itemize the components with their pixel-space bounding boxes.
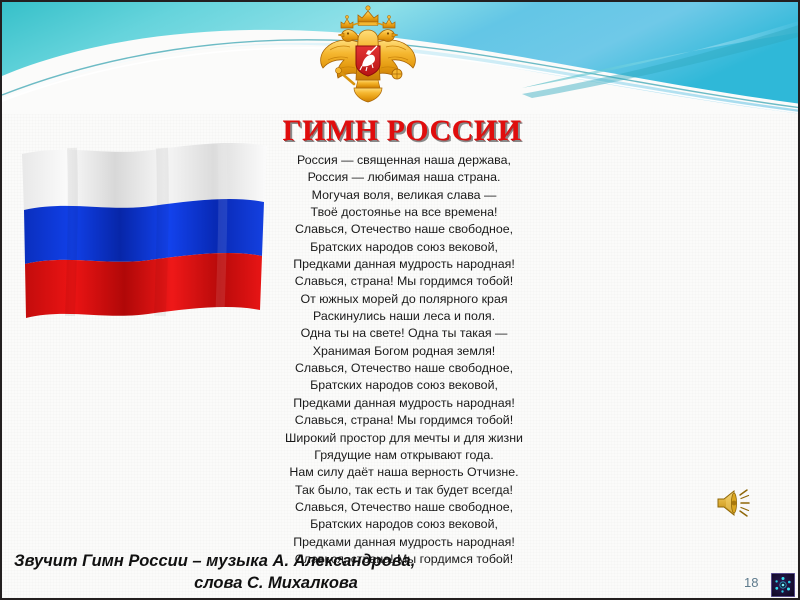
lyrics-line: Нам силу даёт наша верность Отчизне. (254, 464, 554, 481)
slide-caption: Звучит Гимн России – музыка А. Александр… (10, 550, 480, 594)
lyrics-line: Братских народов союз вековой, (254, 377, 554, 394)
lyrics-line: Славься, Отечество наше свободное, (254, 221, 554, 238)
anthem-lyrics: Россия — священная наша держава, Россия … (254, 152, 554, 568)
lyrics-line: Славься, страна! Мы гордимся тобой! (254, 412, 554, 429)
lyrics-line: Раскинулись наши леса и поля. (254, 308, 554, 325)
lyrics-line: Славься, Отечество наше свободное, (254, 360, 554, 377)
lyrics-line: От южных морей до полярного края (254, 291, 554, 308)
lyrics-line: Россия — любимая наша страна. (254, 169, 554, 186)
lyrics-line: Братских народов союз вековой, (254, 239, 554, 256)
sound-speaker-icon[interactable] (714, 485, 758, 521)
decorative-orb-badge-icon (771, 573, 795, 597)
lyrics-line: Славься, Отечество наше свободное, (254, 499, 554, 516)
lyrics-line: Грядущие нам открывают года. (254, 447, 554, 464)
page-number: 18 (744, 575, 758, 590)
russian-flag-image (12, 140, 280, 326)
presentation-slide: ГИМН РОССИИ (0, 0, 800, 600)
lyrics-line: Россия — священная наша держава, (254, 152, 554, 169)
lyrics-line: Предками данная мудрость народная! (254, 395, 554, 412)
caption-line-1: Звучит Гимн России – музыка А. Александр… (10, 550, 480, 572)
lyrics-line: Предками данная мудрость народная! (254, 534, 554, 551)
page-title: ГИМН РОССИИ (252, 114, 552, 148)
lyrics-line: Предками данная мудрость народная! (254, 256, 554, 273)
lyrics-line: Могучая воля, великая слава — (254, 187, 554, 204)
lyrics-line: Так было, так есть и так будет всегда! (254, 482, 554, 499)
lyrics-line: Твоё достоянье на все времена! (254, 204, 554, 221)
lyrics-line: Славься, страна! Мы гордимся тобой! (254, 273, 554, 290)
lyrics-line: Хранимая Богом родная земля! (254, 343, 554, 360)
lyrics-line: Братских народов союз вековой, (254, 516, 554, 533)
caption-line-2: слова С. Михалкова (10, 572, 480, 594)
lyrics-line: Широкий простор для мечты и для жизни (254, 430, 554, 447)
russian-coat-of-arms-icon (314, 2, 422, 114)
lyrics-line: Одна ты на свете! Одна ты такая — (254, 325, 554, 342)
